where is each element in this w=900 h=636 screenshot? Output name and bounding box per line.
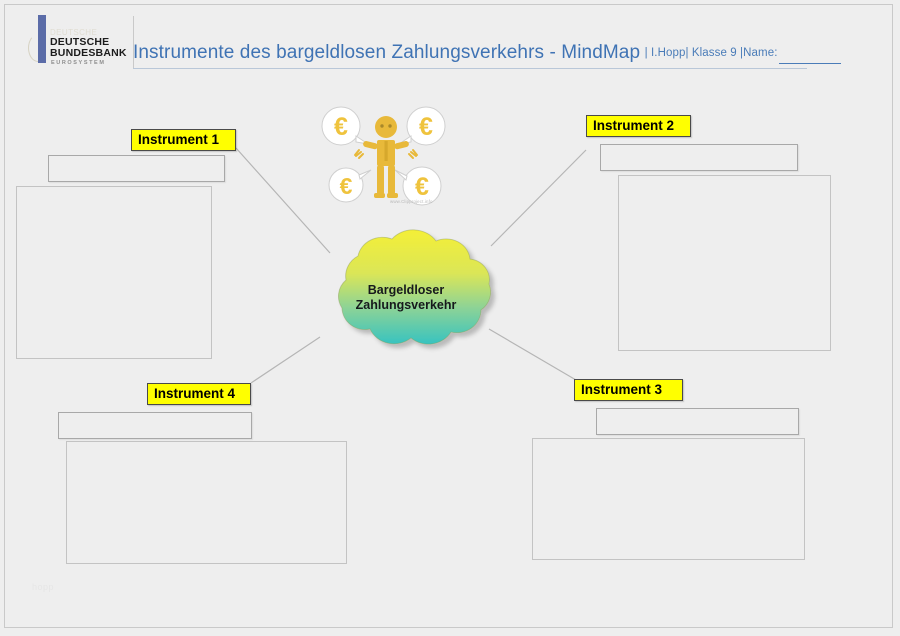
svg-text:€: € [419, 113, 433, 141]
cloud-shape-svg [296, 224, 520, 372]
instrument-2-name-box[interactable] [600, 144, 798, 171]
footer-watermark: hopp [32, 582, 54, 592]
instrument-1-name-box[interactable] [48, 155, 225, 182]
instrument-4-tag[interactable]: Instrument 4 [147, 383, 251, 405]
instrument-1-answer-box[interactable] [16, 186, 212, 359]
central-cloud: Bargeldloser Zahlungsverkehr [296, 224, 520, 372]
svg-text:€: € [340, 173, 353, 199]
instrument-2-answer-box[interactable] [618, 175, 831, 351]
instrument-1-tag[interactable]: Instrument 1 [131, 129, 236, 151]
svg-text:€: € [415, 173, 429, 201]
instrument-4-name-box[interactable] [58, 412, 252, 439]
euro-figure-clipart: € € € € [312, 100, 464, 218]
clipart-watermark: www.Clipproject.info [390, 199, 433, 204]
euro-bubble-top-left: € [322, 107, 368, 145]
instrument-4-answer-box[interactable] [66, 441, 347, 564]
mindmap-worksheet: DEUTSCHE DEUTSCHE BUNDESBANK EUROSYSTEM … [0, 0, 900, 636]
instrument-3-tag[interactable]: Instrument 3 [574, 379, 683, 401]
svg-text:€: € [334, 113, 348, 141]
instrument-3-name-box[interactable] [596, 408, 799, 435]
instrument-2-tag[interactable]: Instrument 2 [586, 115, 691, 137]
euro-figure-svg: € € € € [312, 100, 464, 218]
euro-bubble-top-right: € [399, 107, 445, 145]
euro-bubble-bottom-left: € [329, 168, 371, 202]
instrument-3-answer-box[interactable] [532, 438, 805, 560]
